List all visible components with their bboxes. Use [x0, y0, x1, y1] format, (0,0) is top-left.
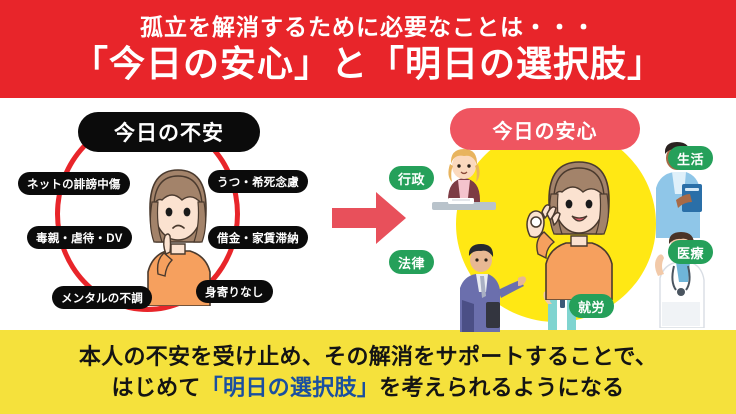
label-text: 医療 [677, 243, 704, 262]
relief-label-administration: 行政 [389, 166, 434, 190]
smiling-girl-ok-sign-icon [516, 150, 626, 300]
slide-root: 孤立を解消するために必要なことは・・・ 「今日の安心」と「明日の選択肢」 今日の… [0, 0, 736, 414]
label-text: 就労 [578, 297, 605, 316]
relief-label-law: 法律 [389, 250, 434, 274]
anxiety-label-no-relatives: 身寄りなし [196, 280, 273, 303]
relief-label-daily-life: 生活 [668, 146, 713, 170]
label-text: うつ・希死念慮 [217, 174, 299, 190]
label-text: 生活 [677, 149, 704, 168]
footer-line-2: はじめて「明日の選択肢」を考えられるようになる [112, 374, 625, 402]
footer-suffix: を考えられるようになる [379, 375, 624, 400]
header-banner: 孤立を解消するために必要なことは・・・ 「今日の安心」と「明日の選択肢」 [0, 0, 736, 98]
anxiety-badge: 今日の不安 [78, 112, 260, 152]
label-text: 毒親・虐待・DV [36, 230, 123, 246]
right-arrow-icon [332, 190, 406, 246]
header-title: 「今日の安心」と「明日の選択肢」 [72, 43, 664, 85]
footer-accent-phrase: 「明日の選択肢」 [201, 375, 379, 400]
relief-cluster: 今日の安心 [388, 98, 736, 330]
footer-line-1: 本人の不安を受け止め、その解消をサポートすることで、 [79, 343, 657, 371]
label-text: 身寄りなし [205, 284, 264, 300]
header-subtitle: 孤立を解消するために必要なことは・・・ [140, 15, 596, 40]
footer-banner: 本人の不安を受け止め、その解消をサポートすることで、 はじめて「明日の選択肢」を… [0, 330, 736, 414]
anxiety-label-debt-rent: 借金・家賃滞納 [208, 226, 308, 249]
transition-arrow [332, 190, 406, 246]
label-text: 借金・家賃滞納 [217, 230, 299, 246]
anxiety-badge-label: 今日の不安 [114, 117, 224, 147]
label-text: 行政 [398, 169, 425, 188]
anxiety-label-toxic-parents: 毒親・虐待・DV [27, 226, 132, 249]
label-text: 法律 [398, 253, 425, 272]
anxiety-label-depression: うつ・希死念慮 [208, 170, 308, 193]
office-worker-desk-icon [430, 142, 498, 220]
label-text: メンタルの不調 [61, 290, 143, 306]
relief-label-employment: 就労 [569, 294, 614, 318]
anxiety-cluster: 今日の不安 [0, 98, 330, 330]
relief-label-medical: 医療 [668, 240, 713, 264]
relief-badge: 今日の安心 [450, 108, 640, 150]
suited-man-pointing-icon [446, 240, 526, 332]
label-text: ネットの誹謗中傷 [27, 176, 121, 192]
anxiety-label-mental-health: メンタルの不調 [52, 286, 152, 309]
relief-badge-label: 今日の安心 [493, 115, 598, 144]
diagram-body: 今日の不安 [0, 98, 736, 330]
footer-prefix: はじめて [112, 375, 201, 400]
anxiety-label-net-slander: ネットの誹謗中傷 [18, 172, 130, 195]
